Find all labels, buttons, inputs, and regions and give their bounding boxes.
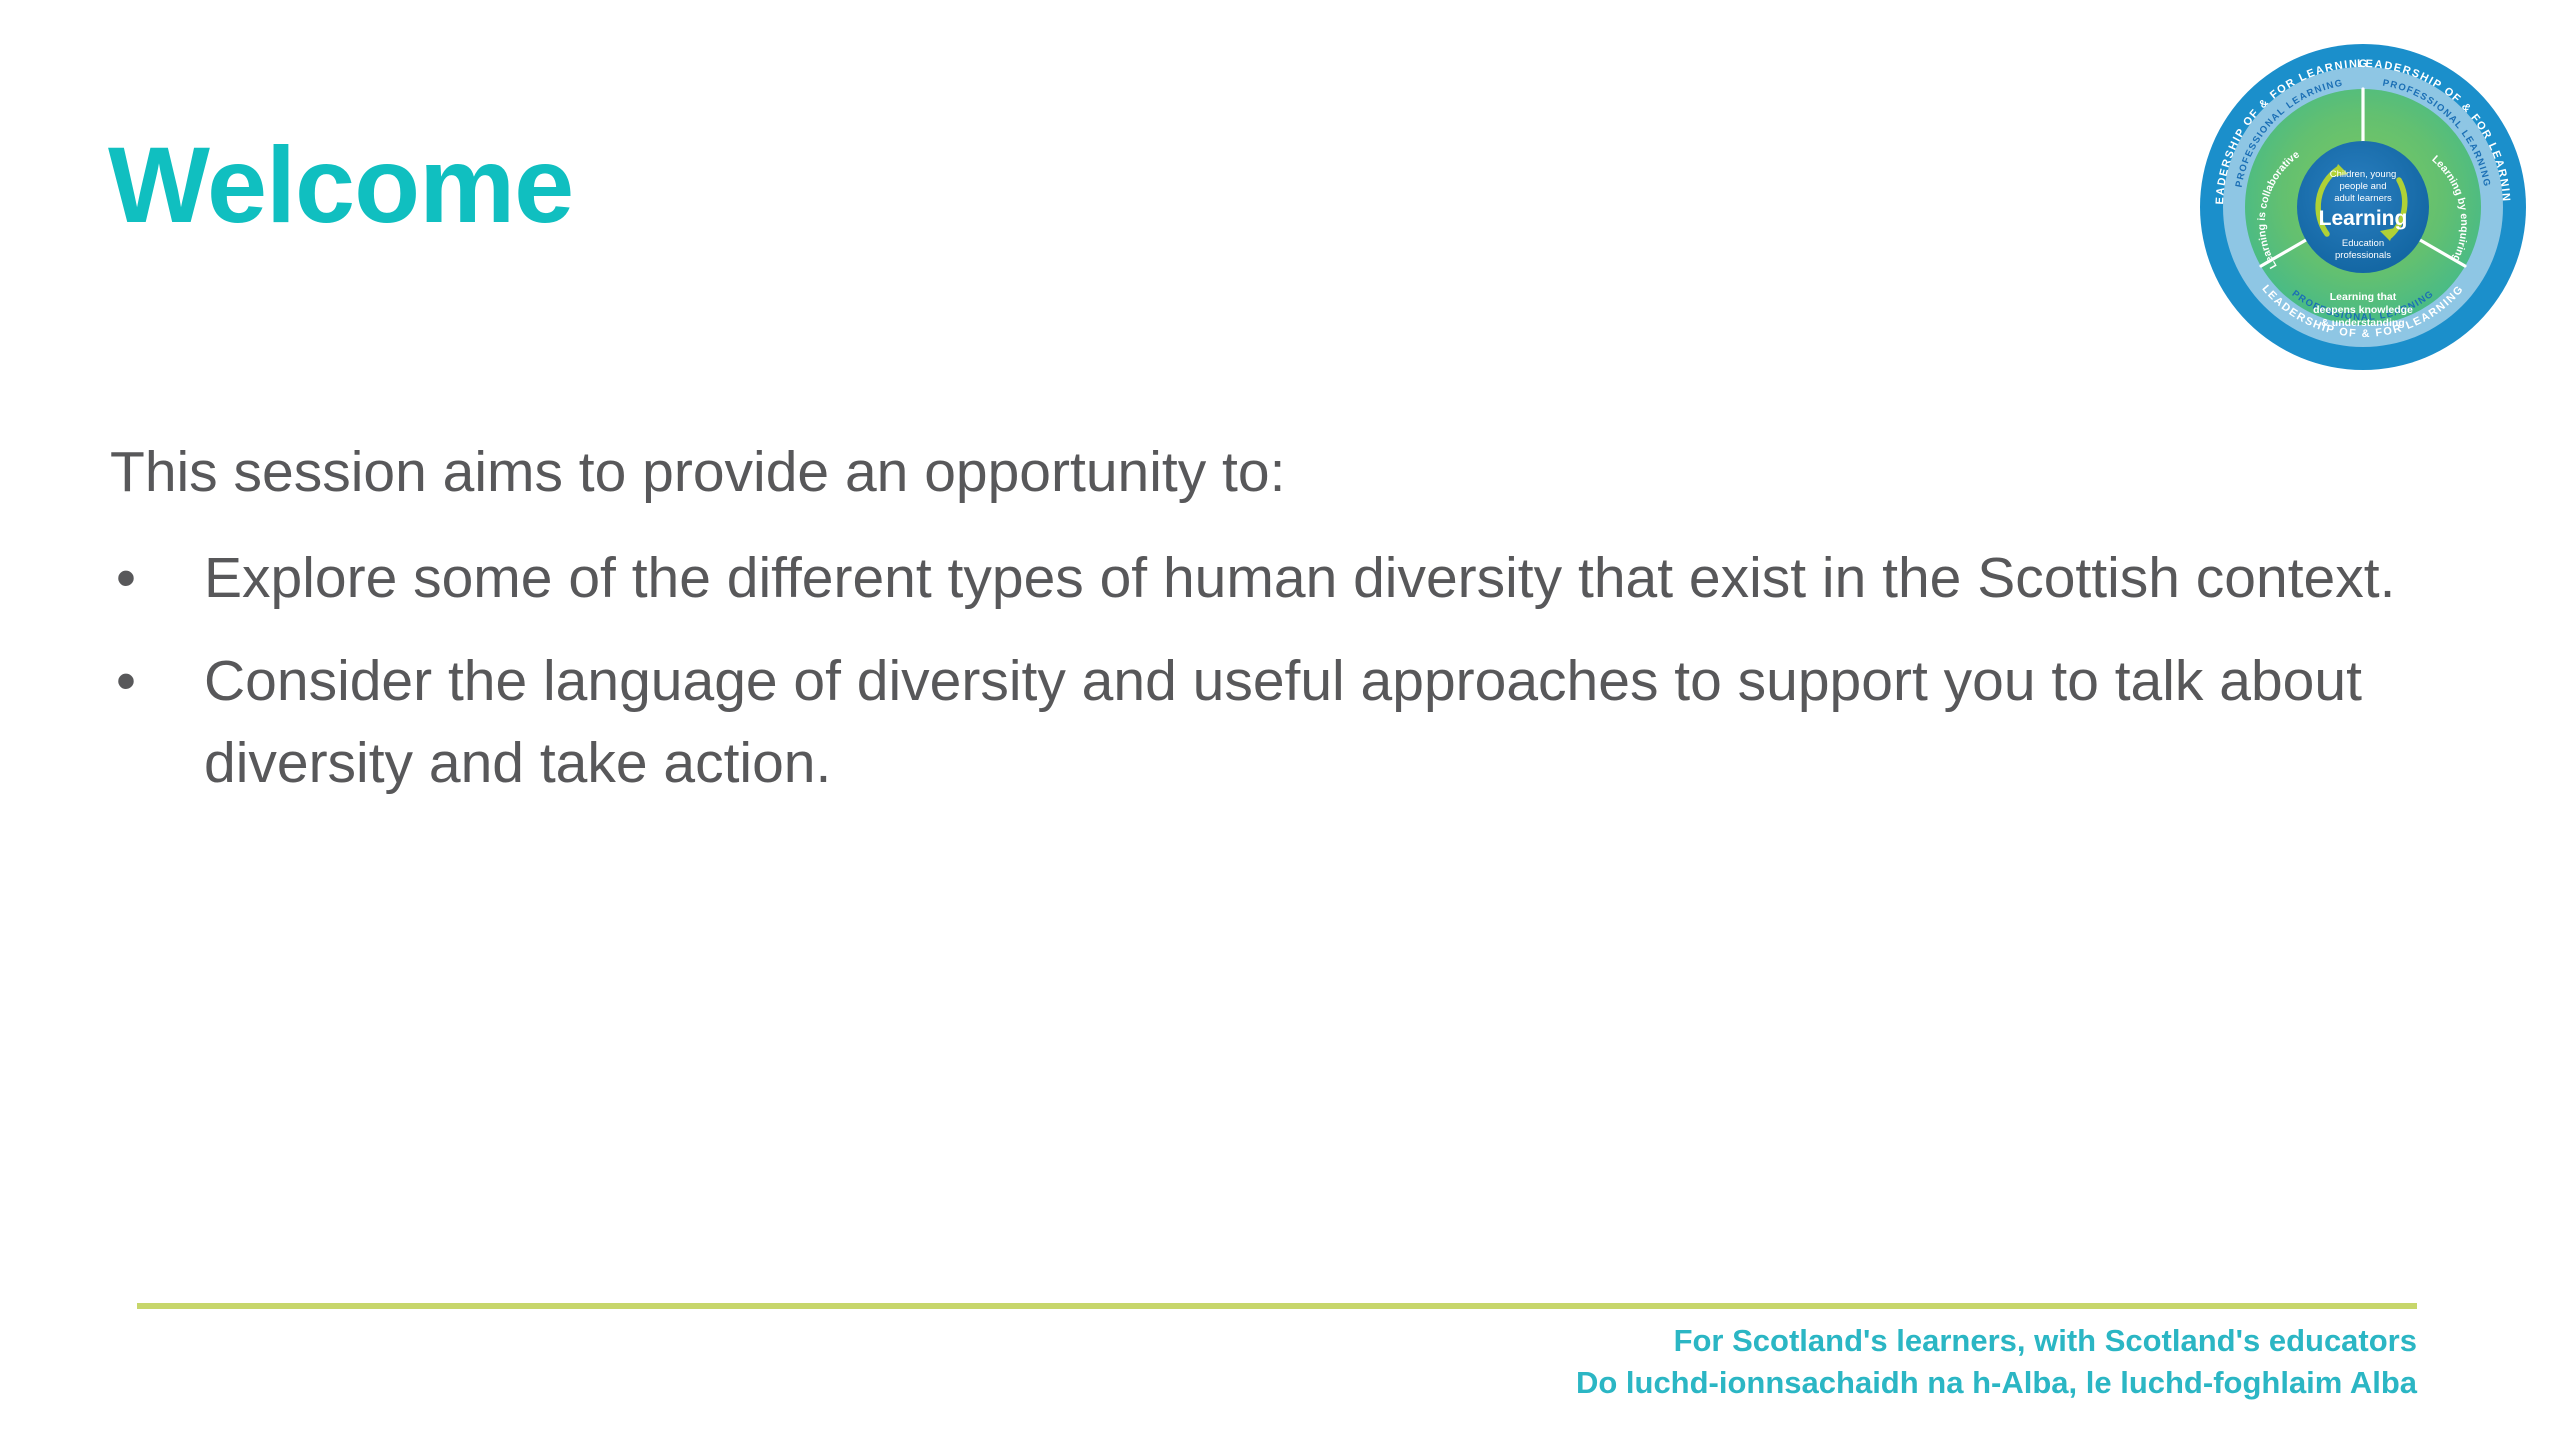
- list-item-label: Explore some of the different types of h…: [204, 546, 2395, 610]
- page-title: Welcome: [108, 128, 573, 241]
- footer-strapline-gaelic: Do luchd-ionnsachaidh na h-Alba, le luch…: [1576, 1362, 2417, 1404]
- bullet-dot-icon: •: [116, 640, 136, 723]
- body-content: This session aims to provide an opportun…: [110, 432, 2450, 825]
- logo-centre-main-text: Learning: [2319, 207, 2408, 230]
- lead-paragraph: This session aims to provide an opportun…: [110, 432, 2450, 513]
- logo-segment-bottom-line3: & understanding: [2321, 317, 2404, 329]
- logo-centre-top-line2: people and: [2339, 181, 2386, 192]
- logo-segment-bottom-line2: deepens knowledge: [2313, 304, 2413, 316]
- logo-centre-bottom-line2: professionals: [2335, 250, 2391, 261]
- slide-canvas: Welcome This session aims to provide an …: [0, 0, 2560, 1440]
- bullet-dot-icon: •: [116, 537, 136, 620]
- logo-segment-bottom-line1: Learning that: [2330, 291, 2397, 303]
- footer-strapline-english: For Scotland's learners, with Scotland's…: [1576, 1320, 2417, 1362]
- list-item: • Explore some of the different types of…: [110, 537, 2420, 620]
- footer-strapline: For Scotland's learners, with Scotland's…: [1576, 1320, 2417, 1403]
- logo-centre-bottom-line1: Education: [2342, 238, 2384, 249]
- logo-centre-top-line1: Children, young: [2330, 169, 2397, 180]
- footer-divider: [137, 1303, 2417, 1309]
- learning-model-icon: LEADERSHIP OF & FOR LEARNING LEADERSHIP …: [2178, 22, 2548, 422]
- logo-centre-top-line3: adult learners: [2334, 193, 2392, 204]
- list-item: • Consider the language of diversity and…: [110, 640, 2420, 805]
- objectives-list: • Explore some of the different types of…: [110, 537, 2450, 805]
- list-item-label: Consider the language of diversity and u…: [204, 649, 2362, 796]
- education-scotland-logo: LEADERSHIP OF & FOR LEARNING LEADERSHIP …: [2178, 22, 2548, 422]
